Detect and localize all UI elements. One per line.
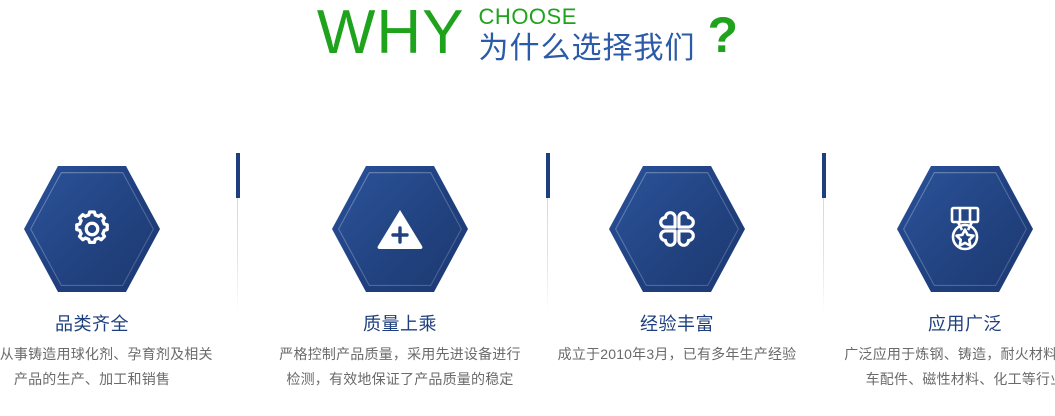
feature-card-description: 严格控制产品质量，采用先进设备进行检测，有效地保证了产品质量的稳定 [268, 342, 532, 392]
feature-card-title: 经验丰富 [545, 312, 809, 336]
feature-card-zhiliangshangcheng[interactable]: 质量上乘 严格控制产品质量，采用先进设备进行检测，有效地保证了产品质量的稳定 [268, 150, 532, 392]
hexagon-badge [609, 166, 745, 292]
feature-card-title: 品类齐全 [0, 312, 224, 336]
question-mark-icon: ? [708, 9, 739, 67]
section-header: WHY CHOOSE 为什么选择我们 ? [0, 0, 1055, 90]
feature-card-pinleiqiquan[interactable]: 品类齐全 主要从事铸造用球化剂、孕育剂及相关产品的生产、加工和销售 [0, 150, 224, 392]
page-title-chinese: 为什么选择我们 [479, 31, 696, 67]
hexagon-badge [332, 166, 468, 292]
feature-card-description: 广泛应用于炼钢、铸造，耐火材料、汽车配件、磁性材料、化工等行业 [833, 342, 1055, 392]
triangle-plus-icon [332, 166, 468, 292]
feature-card-description: 成立于2010年3月，已有多年生产经验 [545, 342, 809, 367]
feature-card-jingyanfengfu[interactable]: 经验丰富 成立于2010年3月，已有多年生产经验 [545, 150, 809, 367]
hexagon-badge [24, 166, 160, 292]
section-header-inner: WHY CHOOSE 为什么选择我们 ? [317, 0, 738, 67]
feature-card-title: 应用广泛 [833, 312, 1055, 336]
feature-card-yingyongguangfan[interactable]: 应用广泛 广泛应用于炼钢、铸造，耐火材料、汽车配件、磁性材料、化工等行业 [833, 150, 1055, 392]
feature-card-description: 主要从事铸造用球化剂、孕育剂及相关产品的生产、加工和销售 [0, 342, 224, 392]
gear-icon [24, 166, 160, 292]
hexagon-badge [897, 166, 1033, 292]
why-choose-us-section: WHY CHOOSE 为什么选择我们 ? [0, 0, 1055, 416]
page-title-why: WHY [317, 2, 465, 64]
feature-card-title: 质量上乘 [268, 312, 532, 336]
clover-icon [609, 166, 745, 292]
feature-card-list: 品类齐全 主要从事铸造用球化剂、孕育剂及相关产品的生产、加工和销售 [0, 150, 1055, 416]
medal-star-icon [897, 166, 1033, 292]
page-subtitle-choose: CHOOSE [479, 5, 696, 29]
section-header-text-group: CHOOSE 为什么选择我们 [479, 2, 696, 67]
